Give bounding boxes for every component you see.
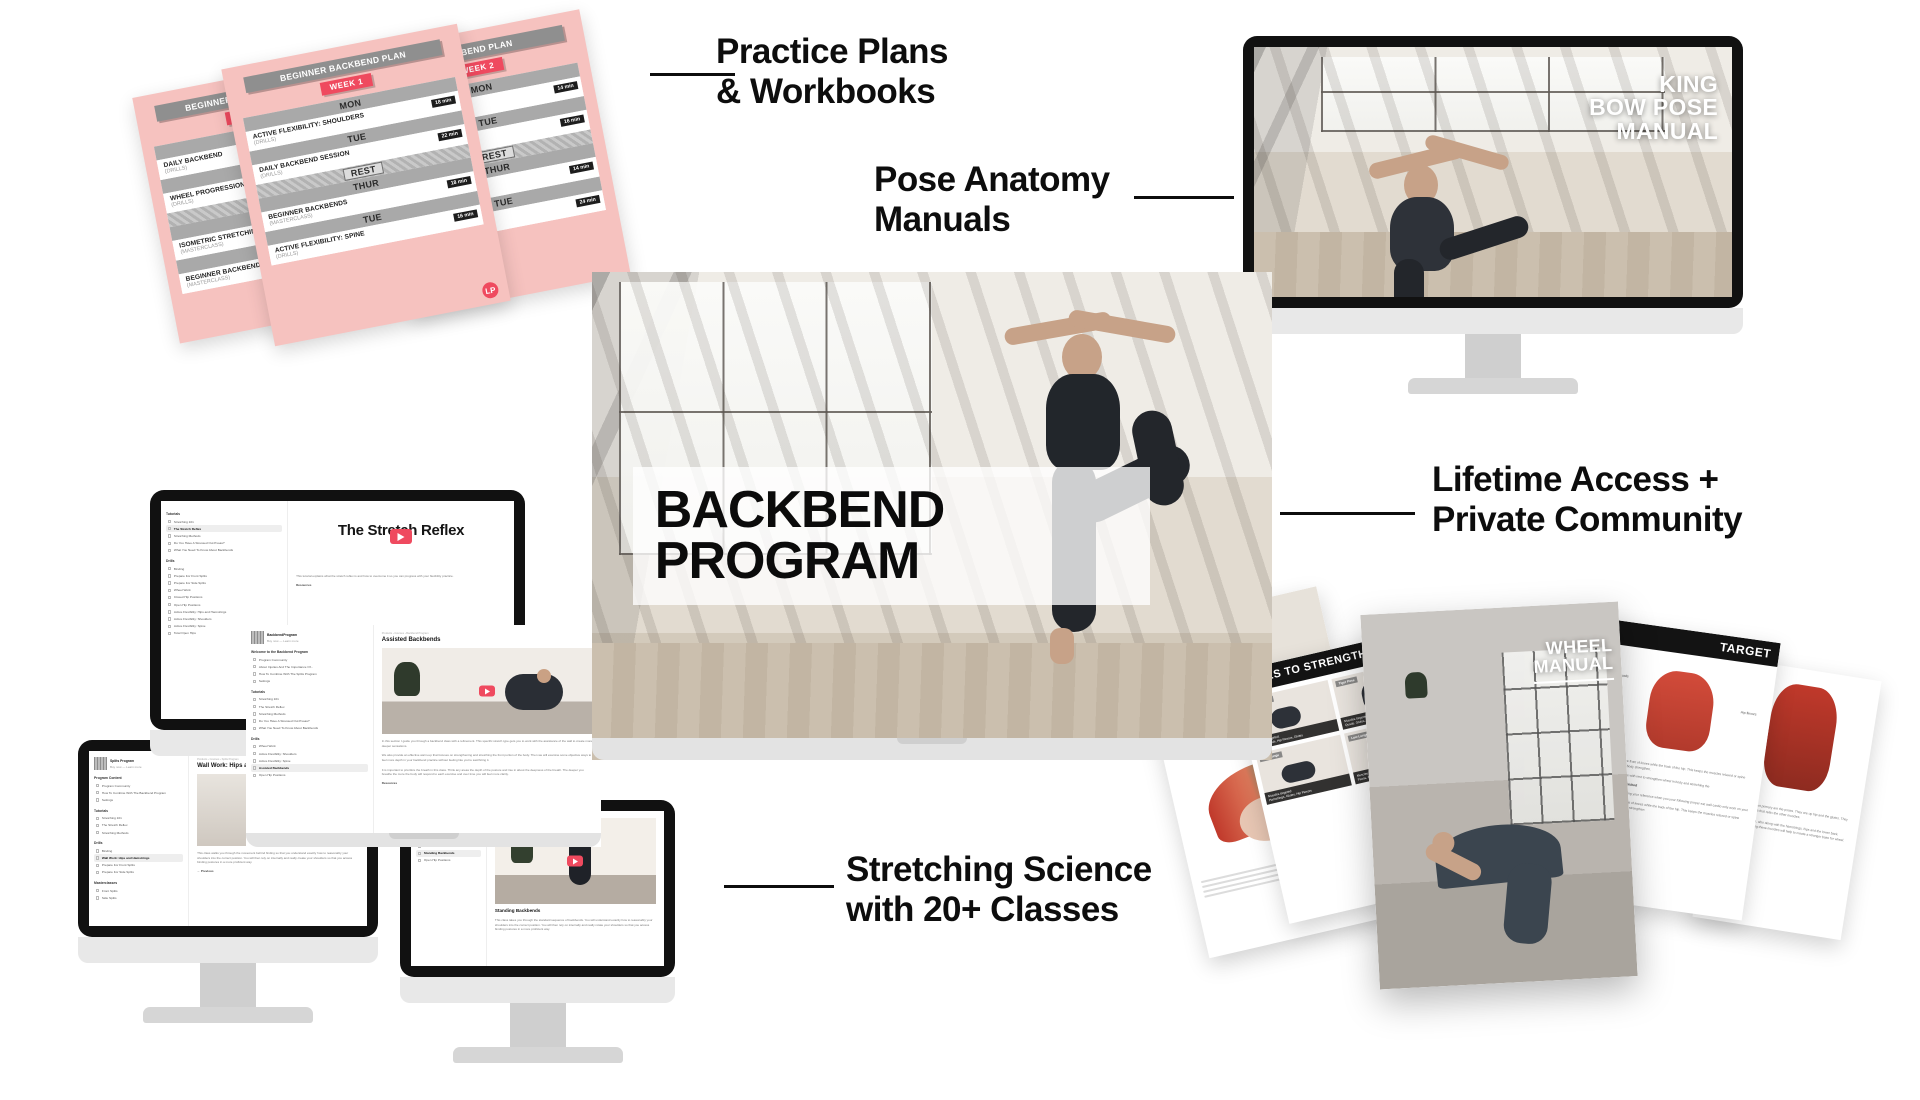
sidebar-item-active[interactable]: Standing Backbends: [416, 850, 481, 857]
checkbox-icon: [168, 596, 171, 599]
manual-wheel-cover: WHEEL MANUAL: [1360, 602, 1637, 990]
sidebar-item[interactable]: Open Hip Positions: [251, 772, 368, 779]
checkbox-icon: [253, 719, 256, 722]
checkbox-icon: [253, 766, 256, 769]
wheel-cover-title: WHEEL MANUAL: [1532, 636, 1614, 684]
checkbox-icon: [96, 824, 99, 827]
sidebar-item[interactable]: Open Hip Positions: [166, 601, 282, 608]
page-body: This tutorial explains what the stretch …: [296, 574, 506, 579]
callout-practice-plans: Practice Plans & Workbooks: [716, 32, 948, 112]
plan-week-badge: WEEK 1: [320, 73, 373, 96]
title-line-2: PROGRAM: [655, 536, 1128, 587]
sidebar-item[interactable]: Active Flexibility: Shoulders: [166, 615, 282, 622]
resources-label: Resources: [382, 781, 593, 785]
sidebar-item[interactable]: Front Splits: [94, 887, 183, 894]
leader-line-lifetime-access: [1280, 512, 1415, 515]
leader-line-pose-anatomy: [1134, 196, 1234, 199]
page-body-2: We also provide an effective warm-up tha…: [382, 753, 593, 762]
checkbox-icon: [96, 871, 99, 874]
cover-line-2: BOW POSE: [1589, 96, 1718, 119]
imac-king-bow-pose: KING BOW POSE MANUAL: [1243, 36, 1743, 394]
sidebar-item[interactable]: Do You Have A Stressed Out Psoas?: [166, 540, 282, 547]
imac-neck: [200, 963, 256, 1007]
checkbox-icon: [253, 680, 256, 683]
checkbox-icon: [418, 859, 421, 862]
sidebar-item[interactable]: Prepare For Front Splits: [94, 862, 183, 869]
mockup-stage: Practice Plans & Workbooks Pose Anatomy …: [0, 0, 1920, 1100]
checkbox-icon: [253, 698, 256, 701]
checkbox-icon: [168, 603, 171, 606]
imac-chin: [400, 977, 675, 1003]
play-button-icon[interactable]: [479, 686, 495, 697]
sidebar-item[interactable]: The Stretch Reflex: [251, 703, 368, 710]
brand-subtitle[interactable]: Buy now — Learn more: [110, 765, 142, 769]
sidebar-item[interactable]: The Stretch Reflex: [94, 822, 183, 829]
sidebar-item[interactable]: Side Splits: [94, 894, 183, 901]
sidebar-item[interactable]: Settings: [251, 678, 368, 685]
sidebar-heading-masterclasses: Masterclasses: [94, 881, 183, 885]
sidebar-item[interactable]: Active Flexibility: Shoulders: [251, 750, 368, 757]
checkbox-icon: [96, 798, 99, 801]
sidebar-heading-tutorials: Tutorials: [166, 512, 282, 516]
checkbox-icon: [96, 831, 99, 834]
imac-bezel: KING BOW POSE MANUAL: [1243, 36, 1743, 308]
laptop-backbend-program: BACKBEND PROGRAM: [592, 272, 1272, 760]
muscle-illustration: [1643, 668, 1717, 754]
callout-stretching-science: Stretching Science with 20+ Classes: [846, 850, 1152, 930]
checkbox-icon: [253, 672, 256, 675]
backbend-program-title-plate: BACKBEND PROGRAM: [633, 467, 1150, 605]
checkbox-icon: [168, 574, 171, 577]
checkbox-icon: [168, 542, 171, 545]
imac-chin: [78, 937, 378, 963]
leader-line-stretching-science: [724, 885, 834, 888]
checkbox-icon: [168, 534, 171, 537]
checkbox-icon: [418, 852, 421, 855]
checkbox-icon: [96, 856, 99, 859]
brand-row[interactable]: BackbendProgram Buy now — Learn more: [251, 631, 368, 644]
cover-line-3: MANUAL: [1589, 120, 1718, 143]
sidebar-item[interactable]: Prepare For Front Splits: [166, 572, 282, 579]
course-main: Products › Courses › Backbend Program As…: [374, 625, 601, 847]
checkbox-icon: [253, 727, 256, 730]
checkbox-icon: [168, 589, 171, 592]
brand-logo-icon: [251, 631, 264, 644]
imac-foot: [1408, 378, 1578, 394]
sidebar-item-active[interactable]: Assisted Backbends: [251, 764, 368, 771]
page-body-3: It is important to prioritize the breath…: [382, 768, 593, 777]
sidebar-item[interactable]: Wheel Work: [251, 743, 368, 750]
sidebar-item-active[interactable]: Wall Work: Hips and Hamstrings: [94, 854, 183, 861]
yoga-figure-king-bow: [1350, 131, 1540, 297]
sidebar-item[interactable]: Binding: [94, 847, 183, 854]
checkbox-icon: [96, 896, 99, 899]
sidebar-item[interactable]: Active Flexibility: Hips and Hamstrings: [166, 608, 282, 615]
sidebar-item[interactable]: Stretching 101: [251, 696, 368, 703]
checkbox-icon: [168, 527, 171, 530]
sidebar-item[interactable]: Prepare For Side Splits: [94, 869, 183, 876]
breadcrumb: Products › Courses › Backbend Program: [382, 632, 593, 635]
checkbox-icon: [253, 745, 256, 748]
checkbox-icon: [168, 632, 171, 635]
sidebar-item[interactable]: Closed Hip Positions: [166, 594, 282, 601]
laptop-bezel: BackbendProgram Buy now — Learn more Wel…: [246, 625, 601, 833]
page-title: Standing Backbends: [495, 908, 656, 913]
checkbox-icon: [168, 610, 171, 613]
laptop-screen: BACKBEND PROGRAM: [606, 286, 1258, 724]
sidebar-heading-drills: Drills: [166, 559, 282, 563]
callout-lifetime-access: Lifetime Access + Private Community: [1432, 460, 1742, 540]
previous-button[interactable]: ← Previous: [197, 869, 359, 873]
sidebar-item[interactable]: What You Need To Know About Backbends: [251, 725, 368, 732]
checkbox-icon: [253, 712, 256, 715]
plant-icon: [1405, 672, 1428, 699]
sidebar-item[interactable]: Stretching Methods: [166, 532, 282, 539]
sidebar-item[interactable]: Do You Have A Stressed Out Psoas?: [251, 717, 368, 724]
sidebar-item[interactable]: Open Hip Positions: [416, 857, 481, 864]
course-ui-assisted-backbends: BackbendProgram Buy now — Learn more Wel…: [246, 625, 601, 847]
checkbox-icon: [168, 581, 171, 584]
sidebar-item[interactable]: What You Need To Know About Backbends: [166, 547, 282, 554]
pose-tag: Tiger Pose: [1335, 676, 1358, 687]
video-player[interactable]: [382, 648, 593, 734]
imac-screen: KING BOW POSE MANUAL: [1254, 47, 1732, 297]
brand-logo-icon: [94, 757, 107, 770]
imac-neck: [510, 1003, 566, 1047]
play-button-icon[interactable]: [567, 856, 583, 867]
page-body-1: In this section I guide you through a ba…: [382, 739, 593, 748]
callout-pose-anatomy: Pose Anatomy Manuals: [874, 160, 1110, 240]
cover-line-1: KING: [1589, 73, 1718, 96]
brand-title: Splits Program: [110, 759, 134, 763]
laptop-base: [246, 833, 601, 847]
brand-subtitle[interactable]: Buy now — Learn more: [267, 639, 299, 643]
checkbox-icon: [253, 759, 256, 762]
laptop-base: [592, 738, 1272, 760]
checkbox-icon: [96, 889, 99, 892]
plan-body: MON 18 minACTIVE FLEXIBILITY: SHOULDERS(…: [243, 77, 484, 265]
sidebar-item[interactable]: Prepare For Side Splits: [166, 579, 282, 586]
checkbox-icon: [253, 774, 256, 777]
sidebar-item[interactable]: Program Community: [251, 656, 368, 663]
page-title: Assisted Backbends: [382, 637, 593, 643]
checkbox-icon: [96, 864, 99, 867]
sidebar-item[interactable]: Wheel Work: [166, 587, 282, 594]
checkbox-icon: [253, 665, 256, 668]
yoga-figure-wheel: [1391, 801, 1617, 962]
sidebar-item[interactable]: Stretching Methods: [251, 710, 368, 717]
practice-plan-sheets: BEGINNER BACKBEND PLAN WEEK 3 MON DAILY …: [150, 14, 620, 344]
checkbox-icon: [96, 784, 99, 787]
title-line-1: BACKBEND: [655, 485, 1128, 536]
king-bow-cover-title: KING BOW POSE MANUAL: [1589, 73, 1718, 143]
checkbox-icon: [96, 791, 99, 794]
sidebar-heading-welcome: Welcome to the Backbend Program: [251, 650, 368, 654]
brand-logo-icon: LP: [481, 281, 500, 300]
imac-neck: [1465, 334, 1521, 378]
target-label-2: Hip flexors: [1740, 710, 1756, 716]
wheel-title-line-2: MANUAL: [1533, 654, 1614, 677]
sidebar-item[interactable]: About Injuries And The Importance Of...: [251, 663, 368, 670]
sidebar-item[interactable]: How To Combine With The Splits Program: [251, 670, 368, 677]
laptop-assisted-backbends: BackbendProgram Buy now — Learn more Wel…: [246, 625, 601, 847]
imac-foot: [453, 1047, 623, 1063]
checkbox-icon: [96, 817, 99, 820]
sidebar-item[interactable]: Binding: [166, 565, 282, 572]
checkbox-icon: [253, 658, 256, 661]
checkbox-icon: [253, 752, 256, 755]
page-body: This class walks you through the movemen…: [197, 851, 359, 865]
checkbox-icon: [168, 520, 171, 523]
checkbox-icon: [96, 849, 99, 852]
imac-chin: [1243, 308, 1743, 334]
imac-foot: [143, 1007, 313, 1023]
sidebar-item[interactable]: Stretching 101: [166, 518, 282, 525]
laptop-bezel: BACKBEND PROGRAM: [592, 272, 1272, 738]
sidebar-item[interactable]: Stretching Methods: [94, 829, 183, 836]
checkbox-icon: [253, 705, 256, 708]
sidebar-heading-drills: Drills: [94, 841, 183, 845]
sidebar-item[interactable]: Active Flexibility: Spine: [251, 757, 368, 764]
brand-title: BackbendProgram: [267, 633, 297, 637]
checkbox-icon: [168, 567, 171, 570]
checkbox-icon: [168, 625, 171, 628]
sidebar-heading-tutorials: Tutorials: [251, 690, 368, 694]
page-body: This class takes you through the standar…: [495, 918, 656, 932]
course-sidebar[interactable]: BackbendProgram Buy now — Learn more Wel…: [246, 625, 374, 847]
checkbox-icon: [168, 617, 171, 620]
sidebar-item-active[interactable]: The Stretch Reflex: [166, 525, 282, 532]
resources-label: Resources: [296, 583, 506, 587]
sidebar-heading-drills: Drills: [251, 737, 368, 741]
checkbox-icon: [168, 549, 171, 552]
laptop-screen: BackbendProgram Buy now — Learn more Wel…: [255, 634, 592, 824]
play-button-icon[interactable]: [390, 529, 412, 544]
